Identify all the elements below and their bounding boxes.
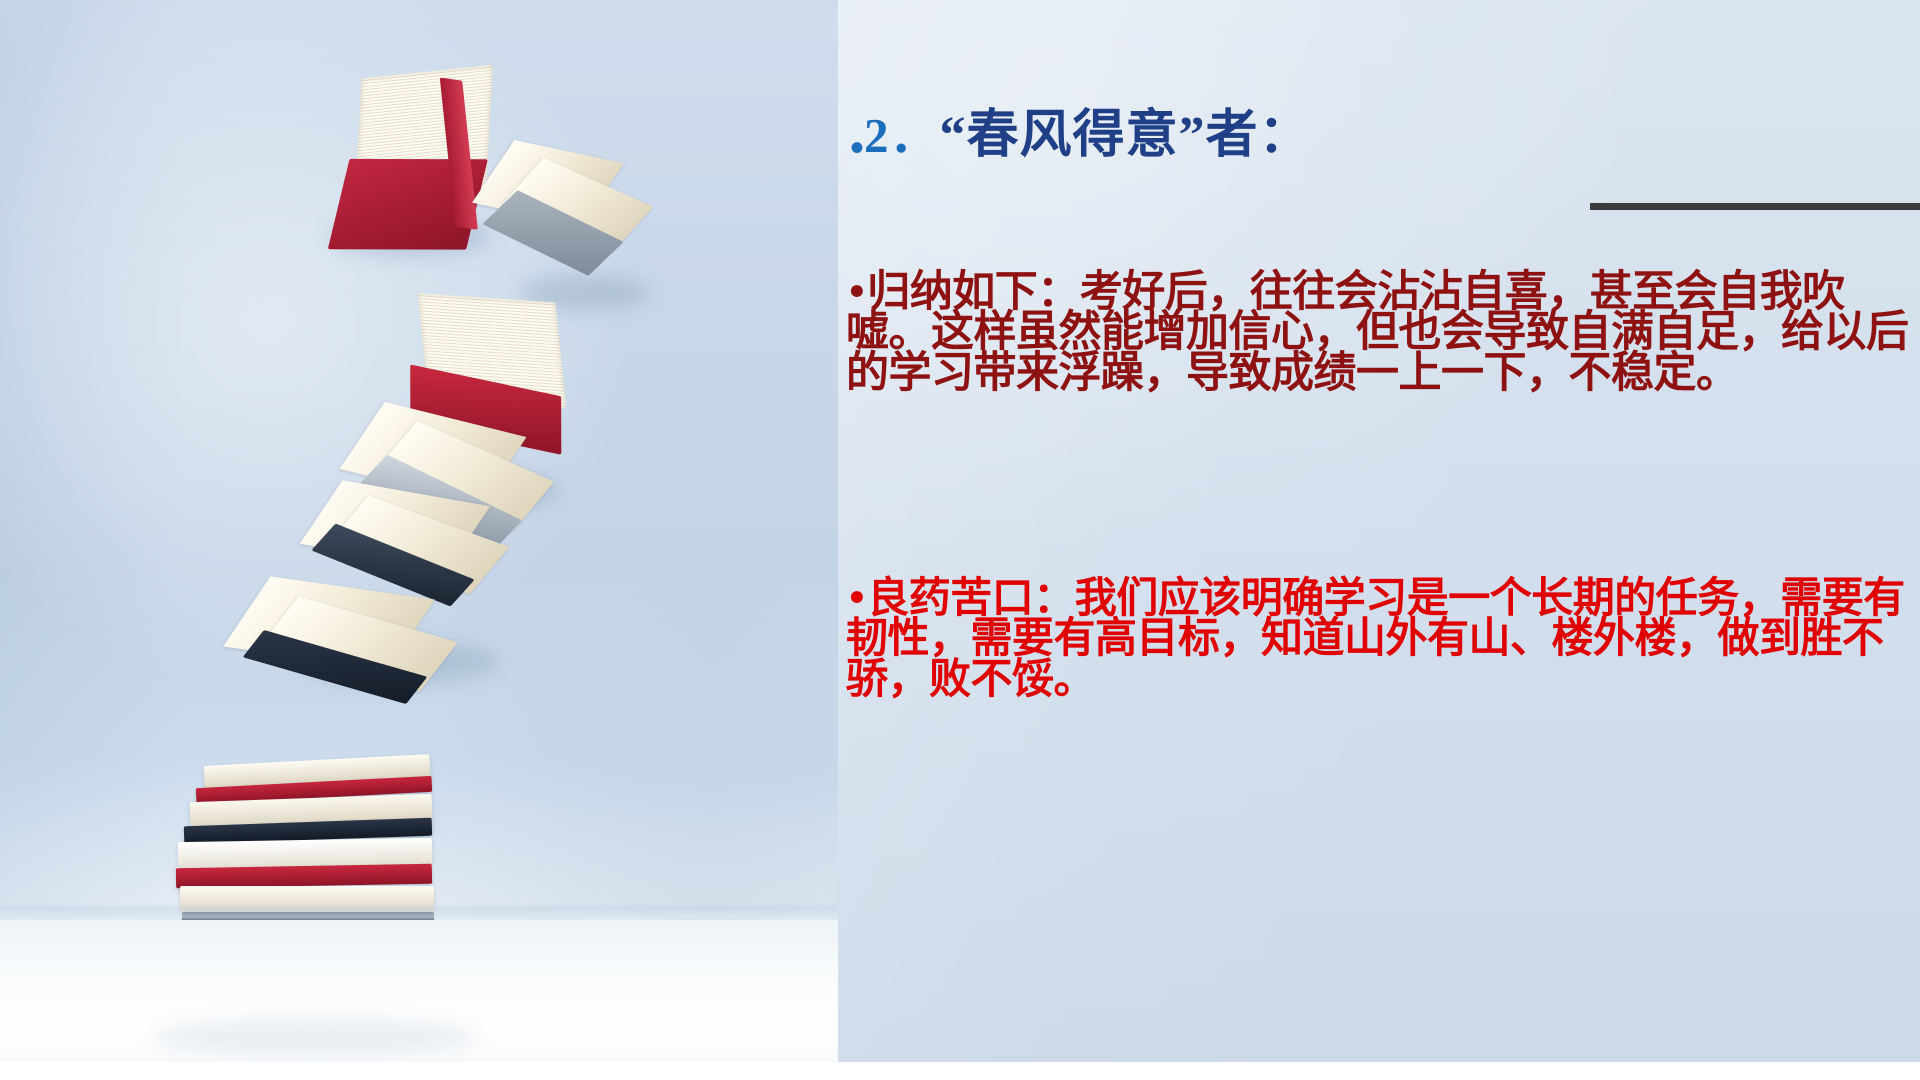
stacked-book — [176, 864, 432, 888]
open-book-cream-lower — [236, 585, 466, 735]
stack-of-books-photo — [0, 0, 838, 1080]
open-book-grey — [492, 148, 672, 288]
title-text: “春风得意”者： — [940, 107, 1312, 164]
slide-bottom-strip — [0, 1062, 1920, 1080]
paragraph-bullet-icon: • — [846, 578, 867, 618]
title-bullet-icon: • — [850, 126, 864, 170]
paragraph-bullet-icon: • — [846, 272, 867, 312]
table-surface — [0, 920, 838, 1080]
content-panel: •2．“春风得意”者： •归纳如下：考好后，往往会沾沾自喜，甚至会自我吹嘘。这样… — [838, 0, 1920, 1080]
slide-canvas: •2．“春风得意”者： •归纳如下：考好后，往往会沾沾自喜，甚至会自我吹嘘。这样… — [0, 0, 1920, 1080]
paragraph-summary: •归纳如下：考好后，往往会沾沾自喜，甚至会自我吹嘘。这样虽然能增加信心，但也会导… — [846, 272, 1918, 393]
stack-ground-shadow — [150, 1018, 480, 1054]
paragraph-advice: •良药苦口：我们应该明确学习是一个长期的任务，需要有韧性，需要有高目标，知道山外… — [846, 578, 1918, 699]
paragraph-advice-text: 良药苦口：我们应该明确学习是一个长期的任务，需要有韧性，需要有高目标，知道山外有… — [846, 573, 1905, 703]
page-title: •2．“春风得意”者： — [850, 92, 1910, 168]
paragraph-summary-text: 归纳如下：考好后，往往会沾沾自喜，甚至会自我吹嘘。这样虽然能增加信心，但也会导致… — [846, 267, 1909, 398]
title-divider — [1590, 203, 1920, 210]
title-number: 2． — [864, 108, 940, 163]
table-edge — [0, 906, 838, 920]
